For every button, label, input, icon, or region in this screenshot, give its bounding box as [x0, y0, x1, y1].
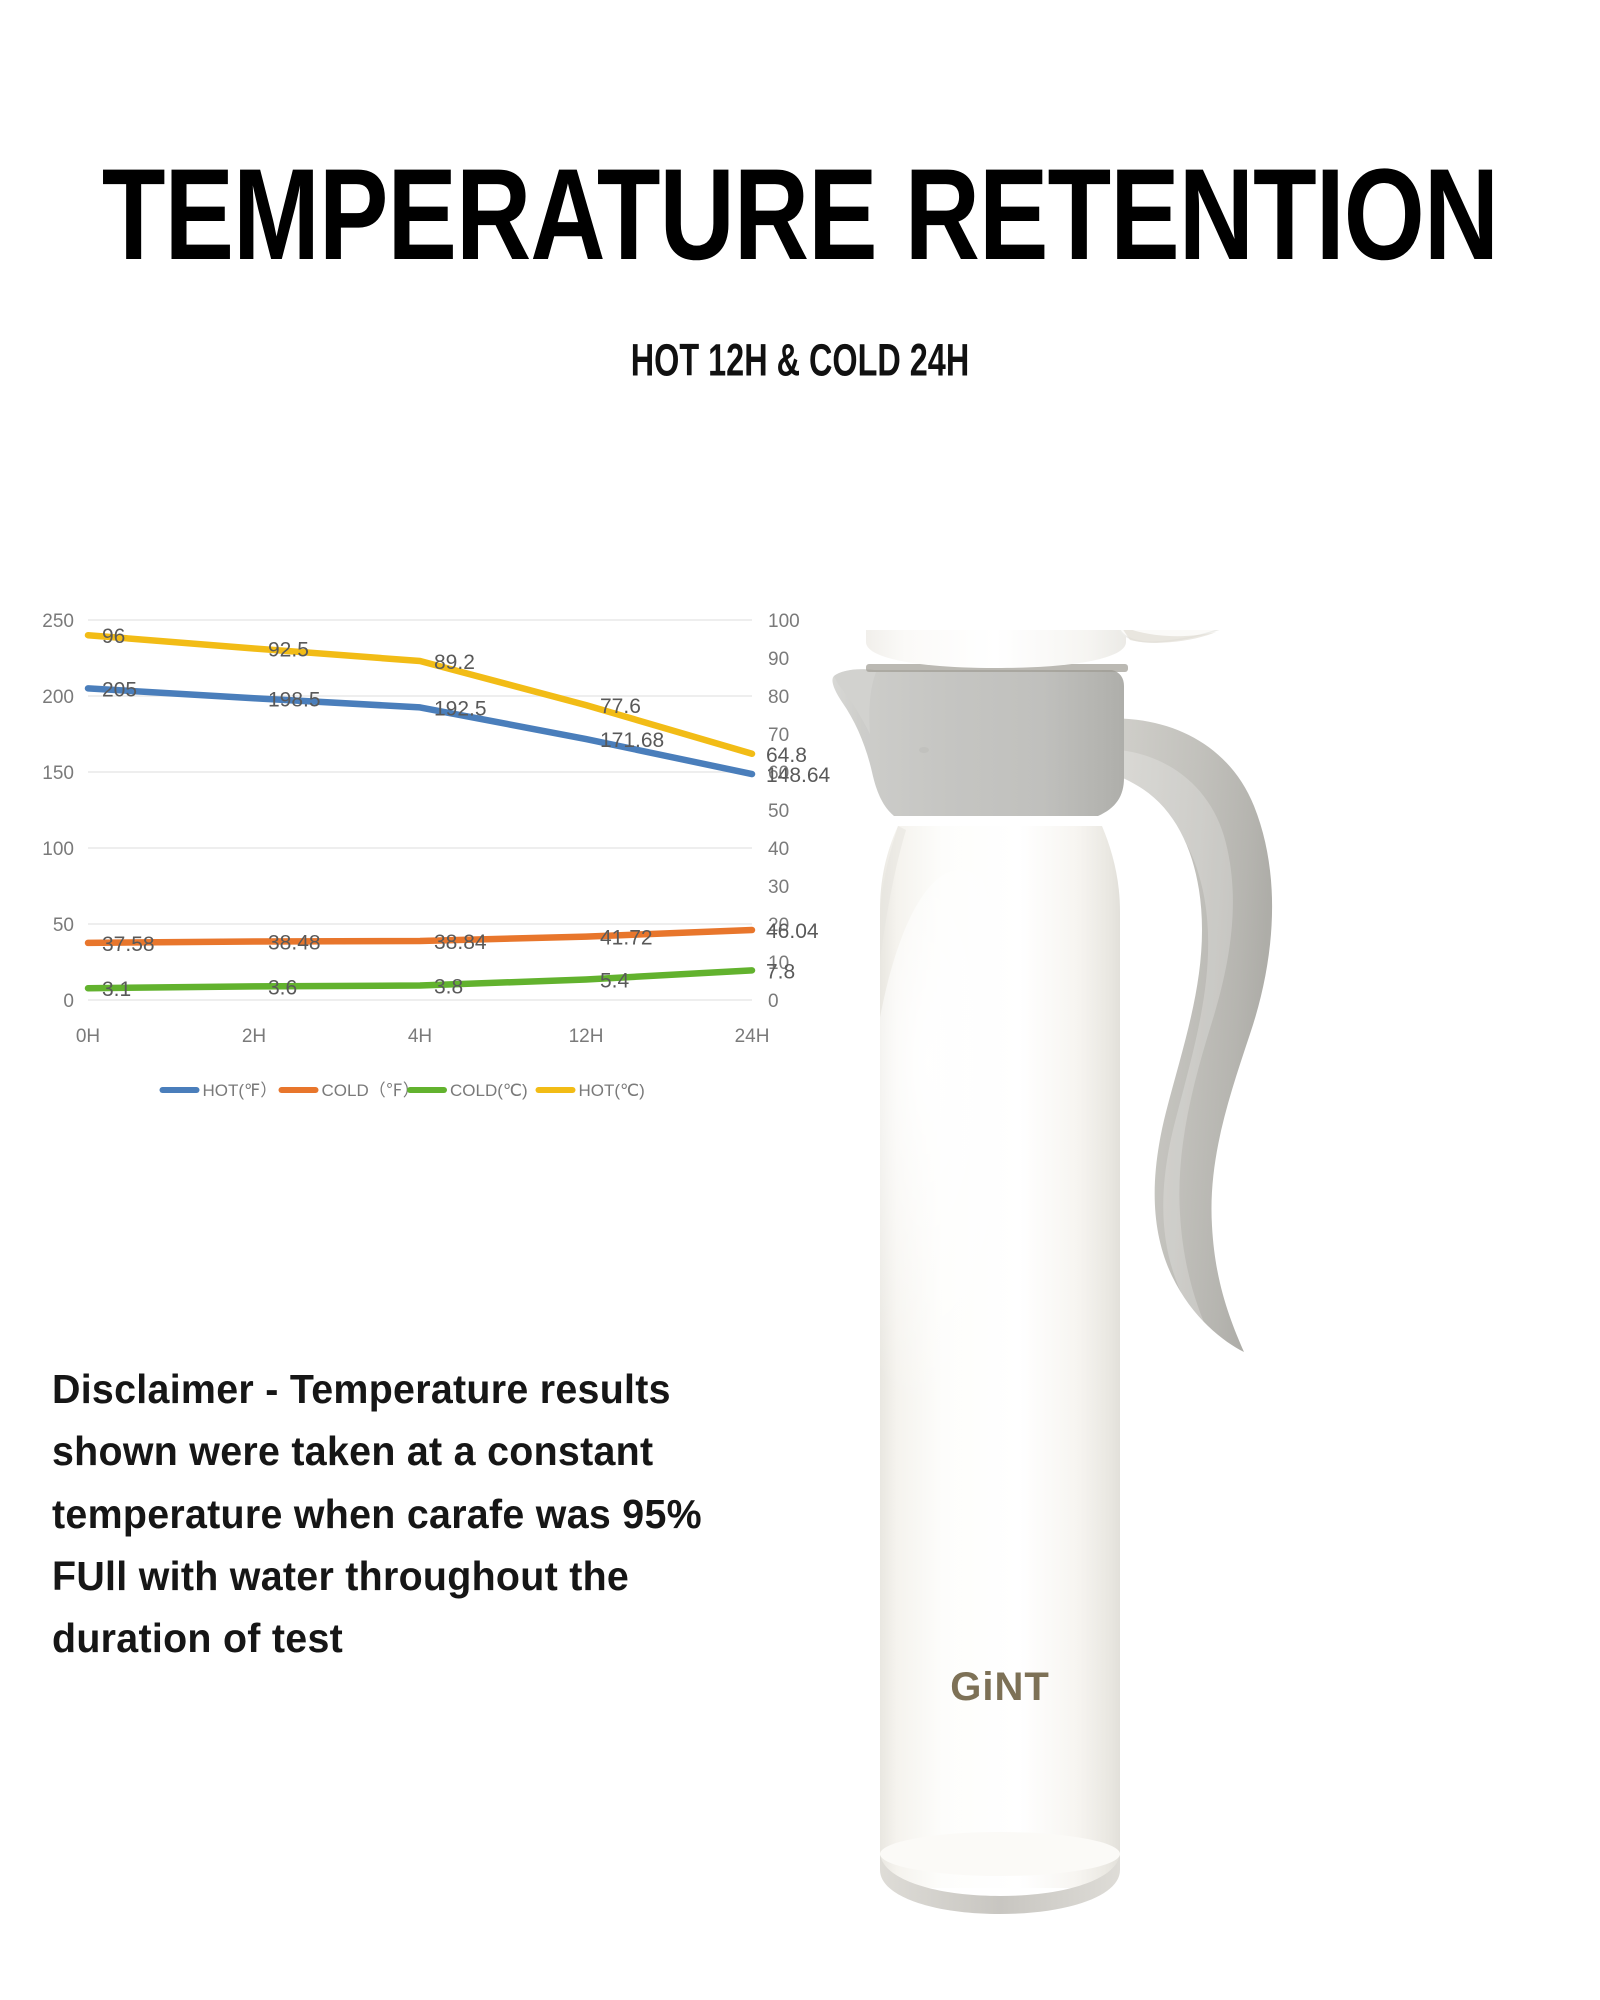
- product-photo-carafe: GiNT: [820, 630, 1580, 2000]
- data-point-label: 198.5: [268, 688, 321, 711]
- right-axis-tick-label: 0: [768, 991, 779, 1012]
- chart-left-axis-ticks: 050100150200250: [42, 611, 74, 1012]
- category-label: 24H: [735, 1026, 770, 1047]
- carafe-base-ellipse: [880, 1832, 1120, 1876]
- temperature-retention-chart: 050100150200250 0102030405060708090100 2…: [0, 600, 840, 1180]
- data-point-label: 38.48: [268, 932, 321, 955]
- data-point-label: 192.5: [434, 697, 487, 720]
- right-axis-tick-label: 80: [768, 687, 789, 708]
- data-point-label: 89.2: [434, 651, 475, 674]
- data-point-label: 64.8: [766, 744, 807, 767]
- right-axis-tick-label: 100: [768, 611, 800, 632]
- disclaimer: Disclaimer - Temperature results shown w…: [52, 1358, 772, 1670]
- left-axis-tick-label: 150: [42, 763, 74, 784]
- chart-category-labels: 0H2H4H12H24H: [76, 1026, 770, 1047]
- header: TEMPERATURE RETENTION HOT 12H & COLD 24H: [0, 0, 1600, 400]
- chart-right-axis-ticks: 0102030405060708090100: [768, 611, 800, 1012]
- carafe-illustration: GiNT: [820, 630, 1580, 2000]
- data-point-label: 77.6: [600, 695, 641, 718]
- chart-legend: HOT(℉）COLD（℉）COLD(℃)HOT(℃): [163, 1081, 645, 1100]
- data-point-label: 171.68: [600, 729, 664, 752]
- data-point-label: 205: [102, 678, 137, 701]
- data-point-label: 38.84: [434, 931, 487, 954]
- data-point-label: 37.58: [102, 933, 155, 956]
- data-point-label: 3.6: [268, 976, 297, 999]
- data-point-label: 5.4: [600, 969, 630, 992]
- data-point-label: 7.8: [766, 960, 795, 983]
- category-label: 0H: [76, 1026, 100, 1047]
- chart-svg: 050100150200250 0102030405060708090100 2…: [0, 600, 840, 1180]
- page-subtitle: HOT 12H & COLD 24H: [80, 338, 1520, 383]
- category-label: 12H: [569, 1026, 604, 1047]
- left-axis-tick-label: 100: [42, 839, 74, 860]
- right-axis-tick-label: 30: [768, 877, 789, 898]
- carafe-lid: [866, 630, 1126, 668]
- brand-logo: GiNT: [950, 1665, 1050, 1709]
- left-axis-tick-label: 200: [42, 687, 74, 708]
- carafe-body-highlight: [865, 870, 1055, 1510]
- data-point-label: 46.04: [766, 920, 819, 943]
- collar-detail-dot: [919, 747, 929, 753]
- data-point-label: 92.5: [268, 639, 309, 662]
- disclaimer-text: Disclaimer - Temperature results shown w…: [52, 1358, 743, 1670]
- category-label: 2H: [242, 1026, 266, 1047]
- carafe-collar: [832, 669, 1124, 816]
- data-point-label: 3.1: [102, 978, 131, 1001]
- legend-label: HOT(℃): [579, 1081, 645, 1100]
- left-axis-tick-label: 250: [42, 611, 74, 632]
- right-axis-tick-label: 50: [768, 801, 789, 822]
- legend-label: COLD(℃): [450, 1081, 528, 1100]
- category-label: 4H: [408, 1026, 432, 1047]
- page-title: TEMPERATURE RETENTION: [56, 150, 1544, 280]
- data-point-label: 96: [102, 625, 125, 648]
- legend-label: HOT(℉）: [203, 1081, 278, 1100]
- series-line: [88, 970, 752, 988]
- legend-label: COLD（℉）: [322, 1081, 420, 1100]
- left-axis-tick-label: 0: [63, 991, 74, 1012]
- right-axis-tick-label: 90: [768, 649, 789, 670]
- data-point-label: 3.8: [434, 976, 463, 999]
- left-axis-tick-label: 50: [53, 915, 74, 936]
- right-axis-tick-label: 40: [768, 839, 789, 860]
- data-point-label: 41.72: [600, 927, 653, 950]
